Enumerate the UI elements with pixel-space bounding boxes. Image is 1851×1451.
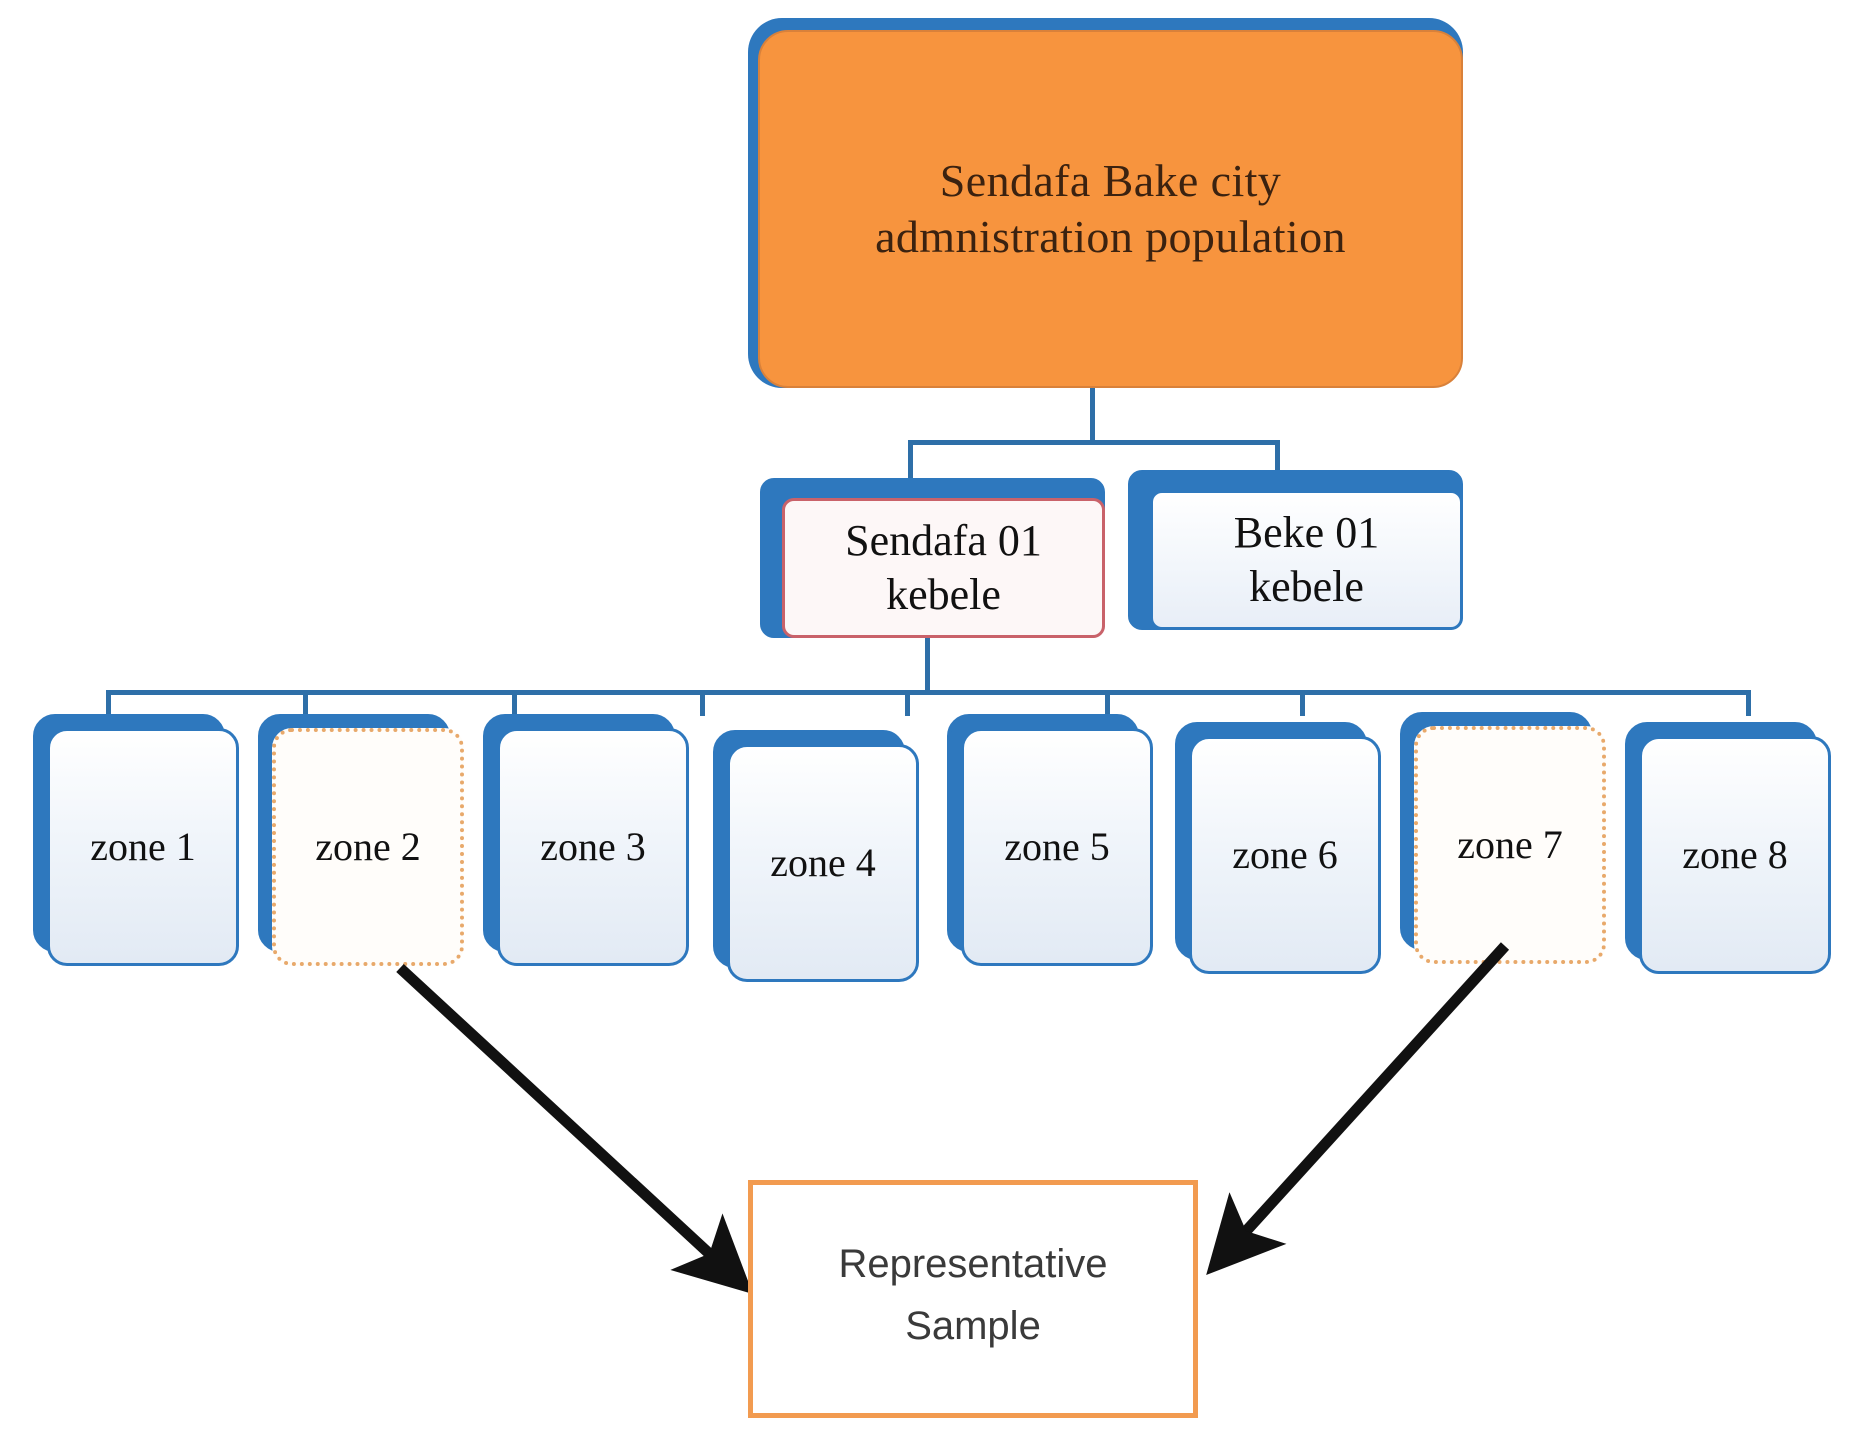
connector-zone-drop-2 (303, 690, 308, 716)
node-zone-6[interactable]: zone 6 (1175, 722, 1367, 960)
node-zone-5[interactable]: zone 5 (947, 714, 1139, 952)
root-node-face: Sendafa Bake city admnistration populati… (758, 30, 1463, 388)
arrow-zone7-to-sample (1218, 946, 1505, 1262)
node-representative-sample[interactable]: Representative Sample (748, 1180, 1198, 1418)
node-zone-2[interactable]: zone 2 (258, 714, 450, 952)
connector-zone-drop-5 (905, 690, 910, 716)
connector-zone-drop-8 (1746, 690, 1751, 716)
node-zone-7[interactable]: zone 7 (1400, 712, 1592, 950)
kebele-sendafa-label-line1: Sendafa 01 (845, 514, 1042, 568)
node-root-population[interactable]: Sendafa Bake city admnistration populati… (748, 18, 1463, 388)
diagram-canvas: Sendafa Bake city admnistration populati… (0, 0, 1851, 1451)
zone-3-face: zone 3 (497, 728, 689, 966)
arrow-zone2-to-sample (400, 968, 740, 1282)
zone-8-label: zone 8 (1682, 831, 1788, 880)
root-node-label-line1: Sendafa Bake city (875, 153, 1346, 209)
zone-2-face: zone 2 (272, 728, 464, 966)
zone-6-face: zone 6 (1189, 736, 1381, 974)
rep-sample-label-line2: Sample (905, 1295, 1041, 1357)
connector-zone-drop-6 (1105, 690, 1110, 716)
zone-4-face: zone 4 (727, 744, 919, 982)
zone-4-label: zone 4 (770, 839, 876, 888)
kebele-beke-label-line2: kebele (1234, 560, 1379, 614)
zone-8-face: zone 8 (1639, 736, 1831, 974)
root-node-label-line2: admnistration population (875, 209, 1346, 265)
connector-zone-drop-4 (700, 690, 705, 716)
rep-sample-label-line1: Representative (838, 1233, 1107, 1295)
zone-6-label: zone 6 (1232, 831, 1338, 880)
node-zone-1[interactable]: zone 1 (33, 714, 225, 952)
connector-zone-bus (106, 690, 1746, 695)
node-zone-3[interactable]: zone 3 (483, 714, 675, 952)
kebele-sendafa-face: Sendafa 01 kebele (782, 498, 1105, 638)
zone-7-face: zone 7 (1414, 726, 1606, 964)
kebele-sendafa-label-line2: kebele (845, 568, 1042, 622)
node-kebele-beke-01[interactable]: Beke 01 kebele (1128, 470, 1463, 630)
node-zone-4[interactable]: zone 4 (713, 730, 905, 968)
connector-kebele-drop-left (908, 440, 913, 480)
node-kebele-sendafa-01[interactable]: Sendafa 01 kebele (760, 478, 1105, 638)
kebele-beke-label-line1: Beke 01 (1234, 506, 1379, 560)
connector-root-stem (1090, 388, 1095, 440)
zone-1-face: zone 1 (47, 728, 239, 966)
connector-kebele-stem (925, 638, 930, 690)
connector-kebele-bus (908, 440, 1280, 445)
zone-1-label: zone 1 (90, 823, 196, 872)
connector-zone-drop-7 (1300, 690, 1305, 716)
zone-5-label: zone 5 (1004, 823, 1110, 872)
zone-2-label: zone 2 (315, 823, 421, 872)
zone-3-label: zone 3 (540, 823, 646, 872)
connector-zone-drop-3 (512, 690, 517, 716)
zone-5-face: zone 5 (961, 728, 1153, 966)
connector-zone-drop-1 (106, 690, 111, 716)
connector-kebele-drop-right (1275, 440, 1280, 474)
node-zone-8[interactable]: zone 8 (1625, 722, 1817, 960)
kebele-beke-face: Beke 01 kebele (1150, 490, 1463, 630)
zone-7-label: zone 7 (1457, 821, 1563, 870)
